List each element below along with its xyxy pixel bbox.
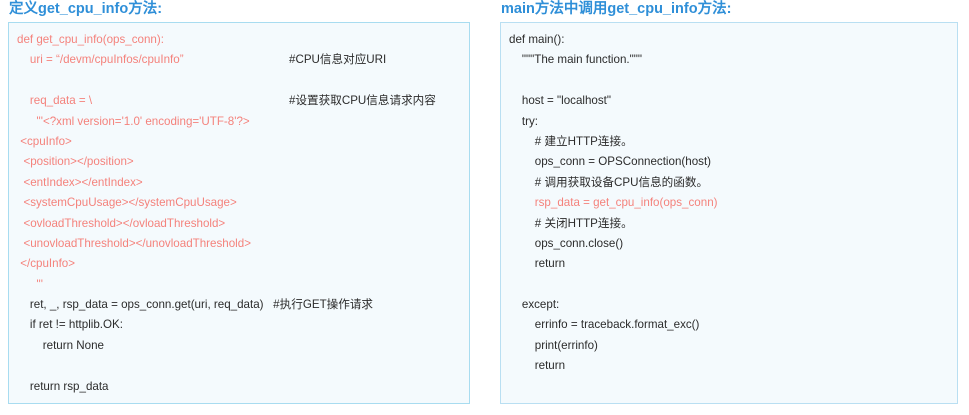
code-line (509, 71, 949, 91)
code-text: def main(): (509, 33, 564, 46)
code-text: </cpuInfo> (17, 257, 75, 270)
code-text: req_data = \ (17, 94, 92, 107)
code-line: <ovloadThreshold></ovloadThreshold> (17, 214, 461, 234)
code-line: return None (17, 336, 461, 356)
code-block-get-cpu-info: def get_cpu_info(ops_conn): uri = “/devm… (8, 22, 470, 404)
panel-heading-main: main方法中调用get_cpu_info方法: (500, 0, 958, 22)
code-line: errinfo = traceback.format_exc() (509, 315, 949, 335)
code-text: ops_conn = OPSConnection(host) (509, 155, 711, 168)
code-text: except: (509, 298, 559, 311)
panel-main: main方法中调用get_cpu_info方法: def main(): """… (500, 0, 958, 404)
code-line: req_data = \#设置获取CPU信息请求内容 (17, 91, 461, 111)
code-line: """The main function.""" (509, 50, 949, 70)
code-line: except: (509, 295, 949, 315)
code-line: return rsp_data (17, 377, 461, 397)
code-line: '''<?xml version='1.0' encoding='UTF-8'?… (17, 112, 461, 132)
code-text: return (509, 257, 565, 270)
code-text: # 调用获取设备CPU信息的函数。 (509, 176, 708, 189)
code-text: rsp_data = get_cpu_info(ops_conn) (509, 196, 718, 209)
code-line: try: (509, 112, 949, 132)
code-text: def get_cpu_info(ops_conn): (17, 33, 164, 46)
code-text: '''<?xml version='1.0' encoding='UTF-8'?… (17, 115, 250, 128)
code-line: host = "localhost" (509, 91, 949, 111)
code-text: uri = “/devm/cpuInfos/cpuInfo” (17, 53, 184, 66)
code-text: ops_conn.close() (509, 237, 623, 250)
code-line: <cpuInfo> (17, 132, 461, 152)
code-text: <unovloadThreshold></unovloadThreshold> (17, 237, 251, 250)
code-line: <unovloadThreshold></unovloadThreshold> (17, 234, 461, 254)
code-comparison-page: 定义get_cpu_info方法: def get_cpu_info(ops_c… (0, 0, 969, 415)
code-line: ops_conn.close() (509, 234, 949, 254)
code-text: ret, _, rsp_data = ops_conn.get(uri, req… (17, 298, 373, 311)
code-text: try: (509, 115, 538, 128)
code-text: <cpuInfo> (17, 135, 72, 148)
code-text: <position></position> (17, 155, 134, 168)
code-line: def get_cpu_info(ops_conn): (17, 30, 461, 50)
code-inline-comment: #CPU信息对应URI (289, 50, 386, 70)
code-block-main: def main(): """The main function.""" hos… (500, 22, 958, 404)
code-line: rsp_data = get_cpu_info(ops_conn) (509, 193, 949, 213)
code-line (509, 275, 949, 295)
code-line: return (509, 356, 949, 376)
code-text: <ovloadThreshold></ovloadThreshold> (17, 217, 225, 230)
code-line: <position></position> (17, 152, 461, 172)
code-line: <entIndex></entIndex> (17, 173, 461, 193)
panel-heading-get-cpu-info: 定义get_cpu_info方法: (8, 0, 470, 22)
code-text: return rsp_data (17, 380, 109, 393)
code-line: # 调用获取设备CPU信息的函数。 (509, 173, 949, 193)
code-text: return None (17, 339, 104, 352)
code-line: # 建立HTTP连接。 (509, 132, 949, 152)
code-text: print(errinfo) (509, 339, 598, 352)
code-line: print(errinfo) (509, 336, 949, 356)
code-line: def main(): (509, 30, 949, 50)
code-line: if ret != httplib.OK: (17, 315, 461, 335)
code-inline-comment: #设置获取CPU信息请求内容 (289, 91, 436, 111)
code-line: ret, _, rsp_data = ops_conn.get(uri, req… (17, 295, 461, 315)
panel-get-cpu-info: 定义get_cpu_info方法: def get_cpu_info(ops_c… (8, 0, 470, 404)
code-text: if ret != httplib.OK: (17, 318, 123, 331)
code-text: # 关闭HTTP连接。 (509, 217, 633, 230)
code-line: <systemCpuUsage></systemCpuUsage> (17, 193, 461, 213)
code-line: ops_conn = OPSConnection(host) (509, 152, 949, 172)
code-text: # 建立HTTP连接。 (509, 135, 633, 148)
code-text: return (509, 359, 565, 372)
code-line: return (509, 254, 949, 274)
code-text: """The main function.""" (509, 53, 642, 66)
code-line: # 关闭HTTP连接。 (509, 214, 949, 234)
code-text: <systemCpuUsage></systemCpuUsage> (17, 196, 237, 209)
code-text: ''' (17, 278, 43, 291)
code-text: <entIndex></entIndex> (17, 176, 143, 189)
code-line: </cpuInfo> (17, 254, 461, 274)
code-line: uri = “/devm/cpuInfos/cpuInfo”#CPU信息对应UR… (17, 50, 461, 70)
code-line: ''' (17, 275, 461, 295)
code-line (17, 356, 461, 376)
code-text: errinfo = traceback.format_exc() (509, 318, 699, 331)
code-text: host = "localhost" (509, 94, 611, 107)
code-line (17, 71, 461, 91)
